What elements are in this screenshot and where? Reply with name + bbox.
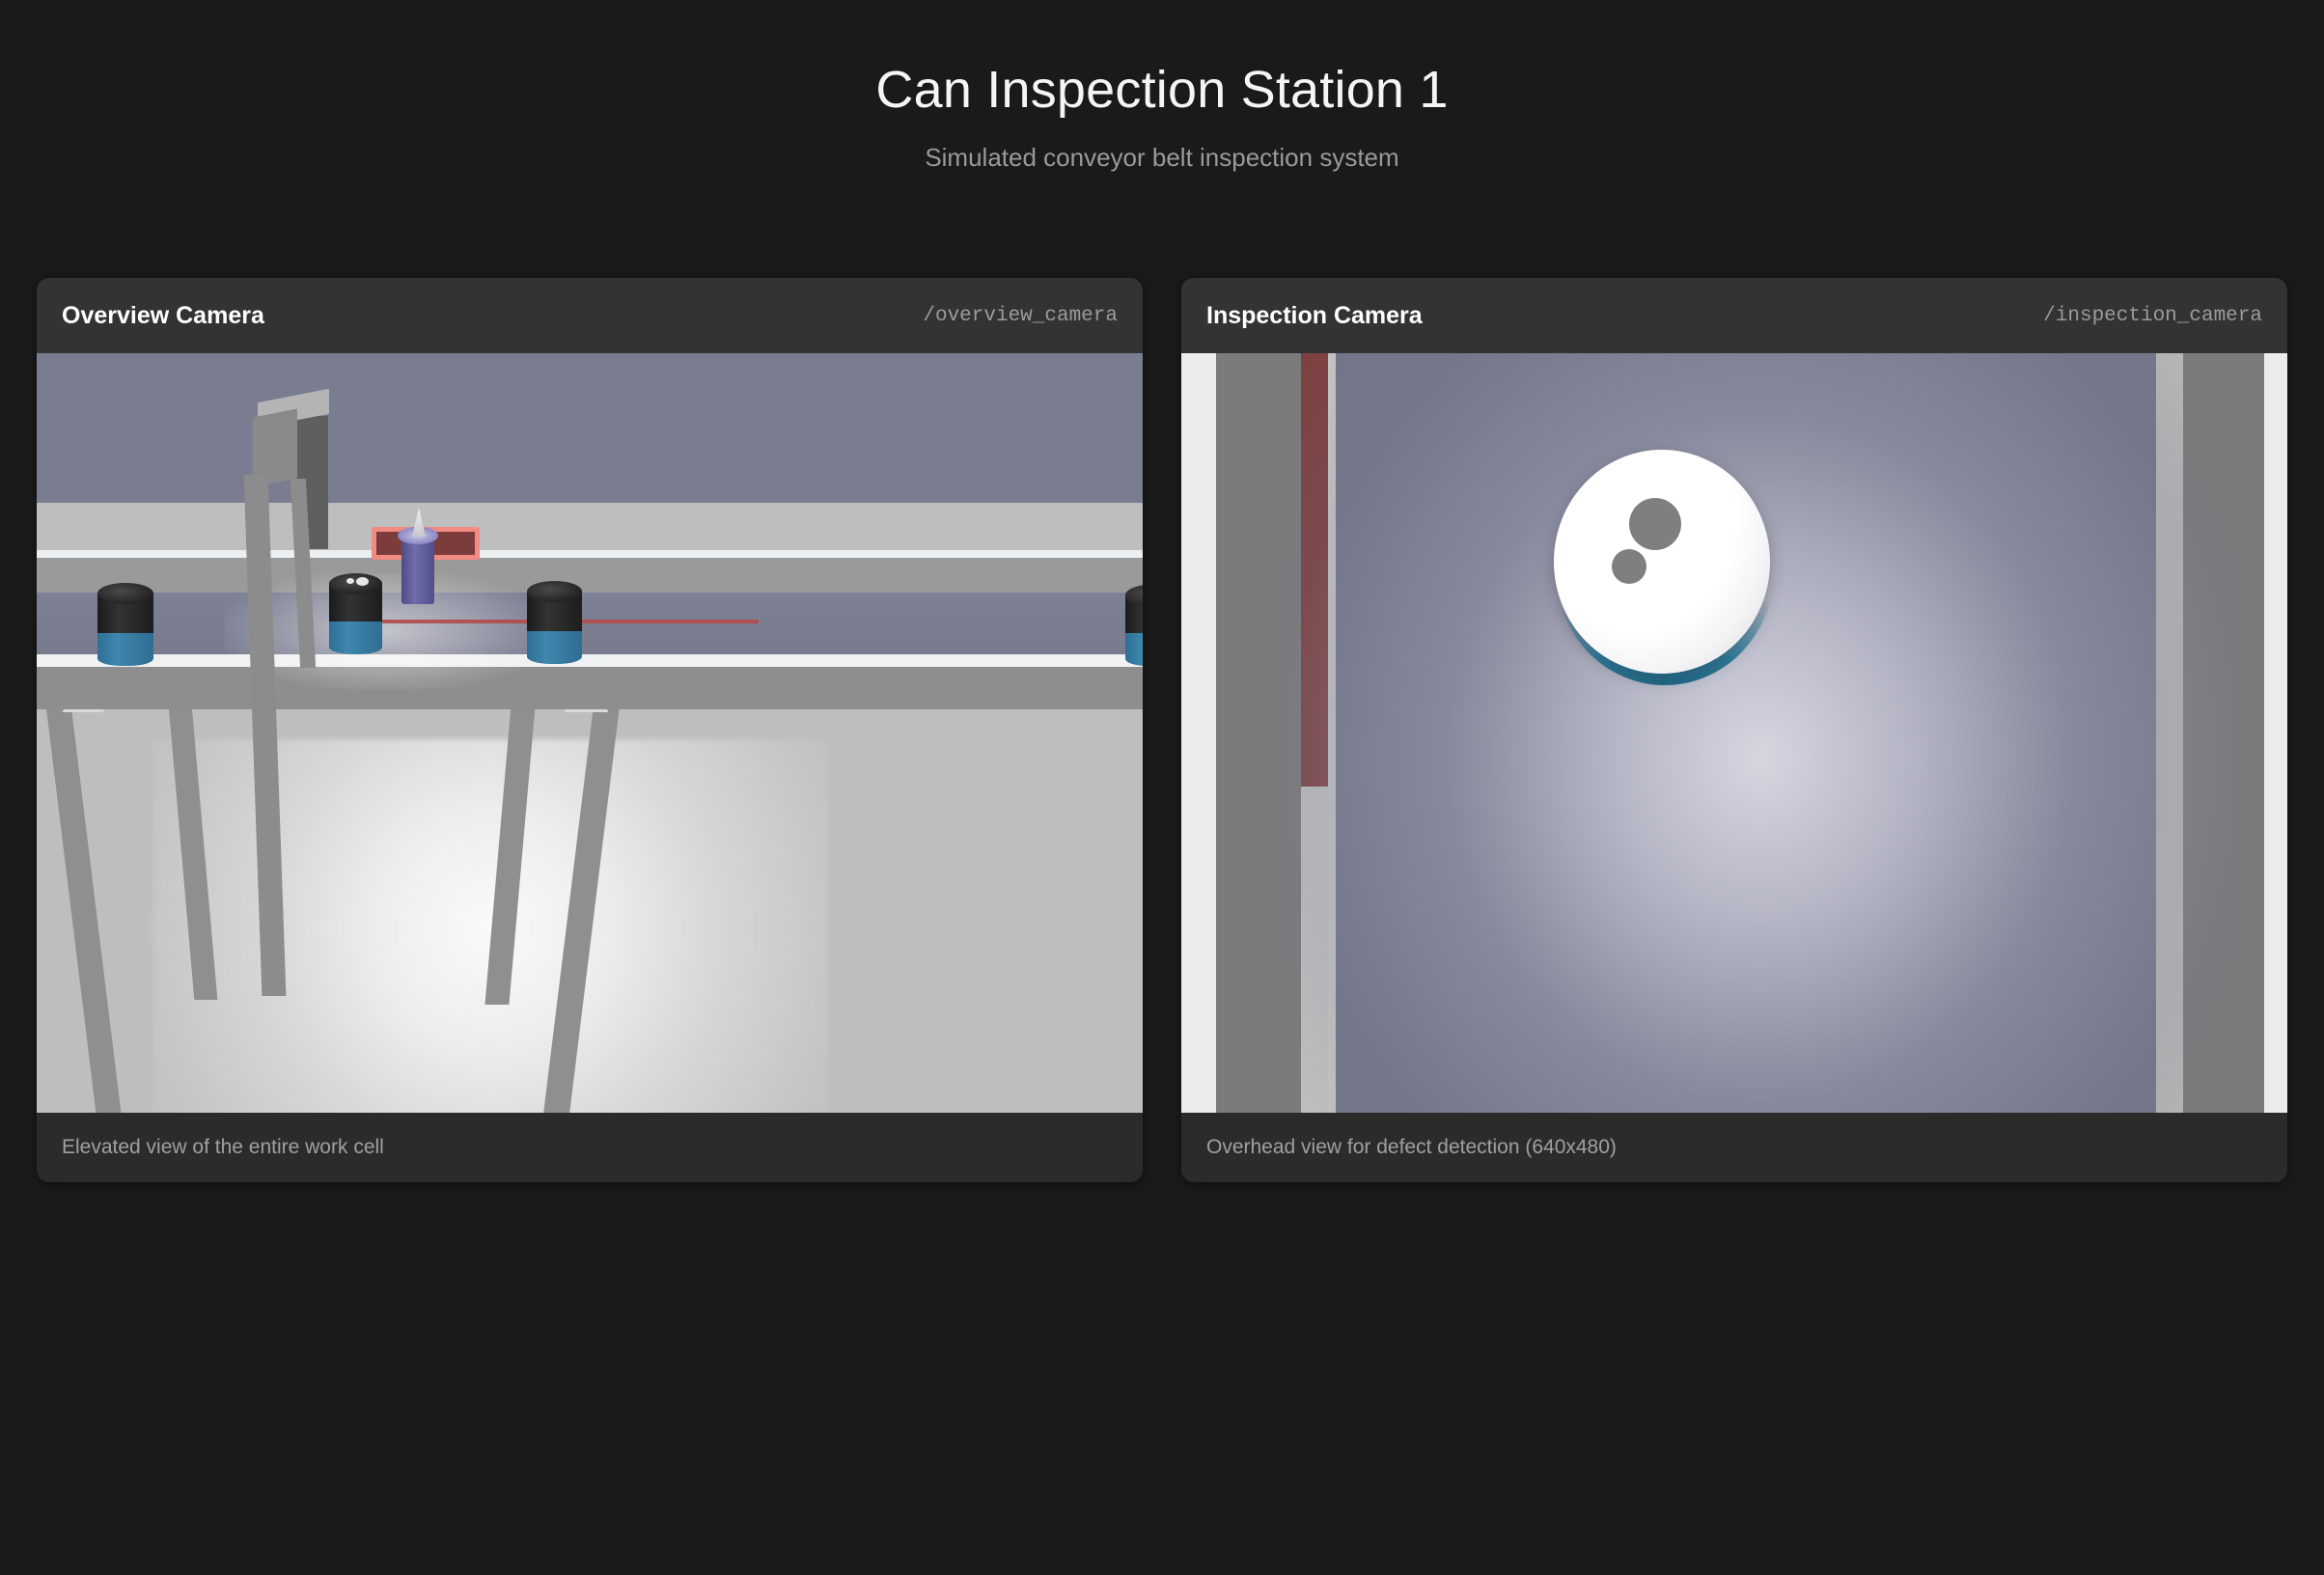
can-2-defect-spot-large	[356, 577, 369, 586]
page-title: Can Inspection Station 1	[0, 60, 2324, 120]
inspection-camera-title: Inspection Camera	[1206, 302, 1423, 330]
overview-camera-feed[interactable]	[37, 353, 1143, 1113]
inspection-camera-footer: Overhead view for defect detection (640x…	[1181, 1113, 2287, 1182]
inspection-camera-header: Inspection Camera /inspection_camera	[1181, 278, 2287, 353]
can-4-partial	[1125, 585, 1143, 666]
overview-camera-title: Overview Camera	[62, 302, 264, 330]
conveyor-near-rail	[37, 654, 1143, 667]
inspection-camera-topic: /inspection_camera	[2043, 305, 2262, 327]
left-outer-white-band	[1181, 353, 1216, 1113]
inspection-light-pool	[1278, 353, 2243, 1113]
right-outer-white-band	[2264, 353, 2287, 1113]
conveyor-belt-surface	[37, 593, 1143, 656]
page-subtitle: Simulated conveyor belt inspection syste…	[0, 143, 2324, 173]
can-2-defective	[329, 573, 382, 654]
inspection-camera-panel[interactable]: Inspection Camera /inspection_camera	[1181, 278, 2287, 1182]
inspection-camera-caption: Overhead view for defect detection (640x…	[1206, 1136, 1617, 1159]
inspection-scene	[1181, 353, 2287, 1113]
defect-spot-small	[1612, 549, 1646, 584]
can-top-surface	[1554, 450, 1770, 674]
can-2-lid	[329, 573, 382, 594]
status-beacon	[401, 535, 434, 604]
inspection-camera-feed[interactable]	[1181, 353, 2287, 1113]
overview-scene	[37, 353, 1143, 1113]
overview-camera-topic: /overview_camera	[923, 305, 1118, 327]
can-1	[97, 583, 153, 666]
floor-light-pool	[152, 739, 828, 1113]
can-3	[527, 581, 582, 664]
page-header: Can Inspection Station 1 Simulated conve…	[0, 0, 2324, 173]
overview-camera-footer: Elevated view of the entire work cell	[37, 1113, 1143, 1182]
defect-spot-large	[1629, 498, 1681, 550]
back-wall	[37, 353, 1143, 503]
overview-camera-header: Overview Camera /overview_camera	[37, 278, 1143, 353]
conveyor-far-frame	[37, 558, 1143, 593]
overview-camera-panel[interactable]: Overview Camera /overview_camera	[37, 278, 1143, 1182]
conveyor-near-frame	[37, 667, 1143, 709]
overview-camera-caption: Elevated view of the entire work cell	[62, 1136, 384, 1159]
camera-panel-grid: Overview Camera /overview_camera	[37, 278, 2287, 1182]
can-2-defect-spot-small	[346, 578, 354, 584]
app-root: Can Inspection Station 1 Simulated conve…	[0, 0, 2324, 1575]
